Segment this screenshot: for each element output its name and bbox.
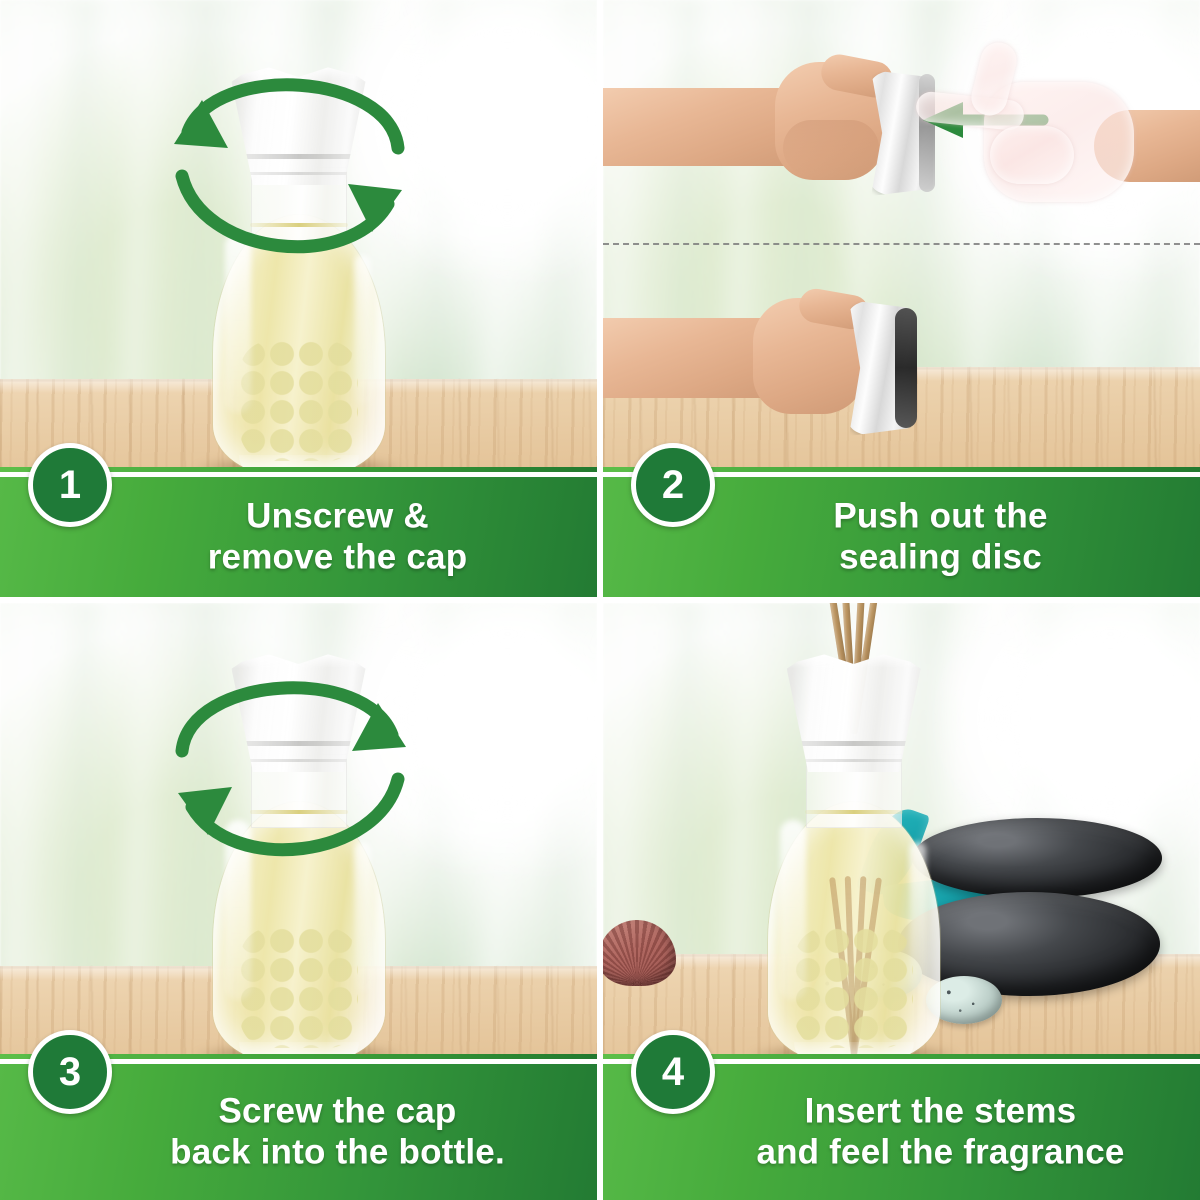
cap-ring-lower <box>240 172 358 175</box>
bottle-highlight-right <box>910 842 926 992</box>
step-4-caption-text: Insert the stems and feel the fragrance <box>699 1091 1182 1172</box>
cap-ring-lower <box>795 759 913 762</box>
liquid-level-line <box>250 223 348 227</box>
bottle-highlight-left <box>225 820 251 1000</box>
cap-lip-highlight <box>234 67 363 81</box>
step-4-scene <box>603 603 1200 1064</box>
step-2-scene <box>603 0 1200 477</box>
bottle-highlight-left <box>780 820 806 1000</box>
cap-ring-upper <box>237 154 360 159</box>
bottle-cap <box>232 65 366 185</box>
bottle-cap <box>232 652 366 772</box>
cap-ring-upper <box>237 741 360 746</box>
bottle-highlight-left <box>225 233 251 413</box>
step-4-caption-banner: 4 Insert the stems and feel the fragranc… <box>603 1064 1200 1200</box>
bottle-dimple-pattern <box>795 928 913 1048</box>
diffuser-bottle <box>209 57 389 477</box>
cap-ring-lower <box>240 759 358 762</box>
black-zen-stone-top <box>912 818 1162 898</box>
bottle-dimple-pattern <box>240 341 358 461</box>
steps-grid: 1 Unscrew & remove the cap <box>0 0 1200 1200</box>
bottle-highlight-right <box>355 255 371 405</box>
bottle-dimple-pattern <box>240 928 358 1048</box>
cap-lip-highlight <box>234 654 363 668</box>
step-panel-4: 4 Insert the stems and feel the fragranc… <box>603 603 1200 1200</box>
bottle-body <box>213 215 385 477</box>
step-1-caption-text: Unscrew & remove the cap <box>96 496 579 577</box>
cap-ring-upper <box>792 741 915 746</box>
instruction-infographic: 1 Unscrew & remove the cap <box>0 0 1200 1200</box>
step-2-caption-banner: 2 Push out the sealing disc <box>603 477 1200 597</box>
step-3-caption-banner: 3 Screw the cap back into the bottle. <box>0 1064 597 1200</box>
step-panel-3: 3 Screw the cap back into the bottle. <box>0 603 597 1200</box>
diffuser-bottle <box>209 644 389 1064</box>
sealing-disc-lower-dark-edge <box>895 308 917 428</box>
bottle-highlight-right <box>355 842 371 992</box>
liquid-level-line <box>250 810 348 814</box>
step-panel-1: 1 Unscrew & remove the cap <box>0 0 597 597</box>
step-1-scene <box>0 0 597 477</box>
step-1-caption-banner: 1 Unscrew & remove the cap <box>0 477 597 597</box>
step-3-caption-text: Screw the cap back into the bottle. <box>96 1091 579 1172</box>
bottle-body <box>213 802 385 1064</box>
step-panel-2: 2 Push out the sealing disc <box>603 0 1200 597</box>
diffuser-bottle <box>764 644 944 1064</box>
liquid-level-line <box>805 810 903 814</box>
step-3-scene <box>0 603 597 1064</box>
left-hand-shade <box>783 120 879 176</box>
right-glove-knuckles <box>990 126 1074 184</box>
bottle-body <box>768 802 940 1064</box>
step-2-caption-text: Push out the sealing disc <box>699 496 1182 577</box>
bottle-cap <box>787 652 921 772</box>
section-divider-dashed <box>603 243 1200 245</box>
